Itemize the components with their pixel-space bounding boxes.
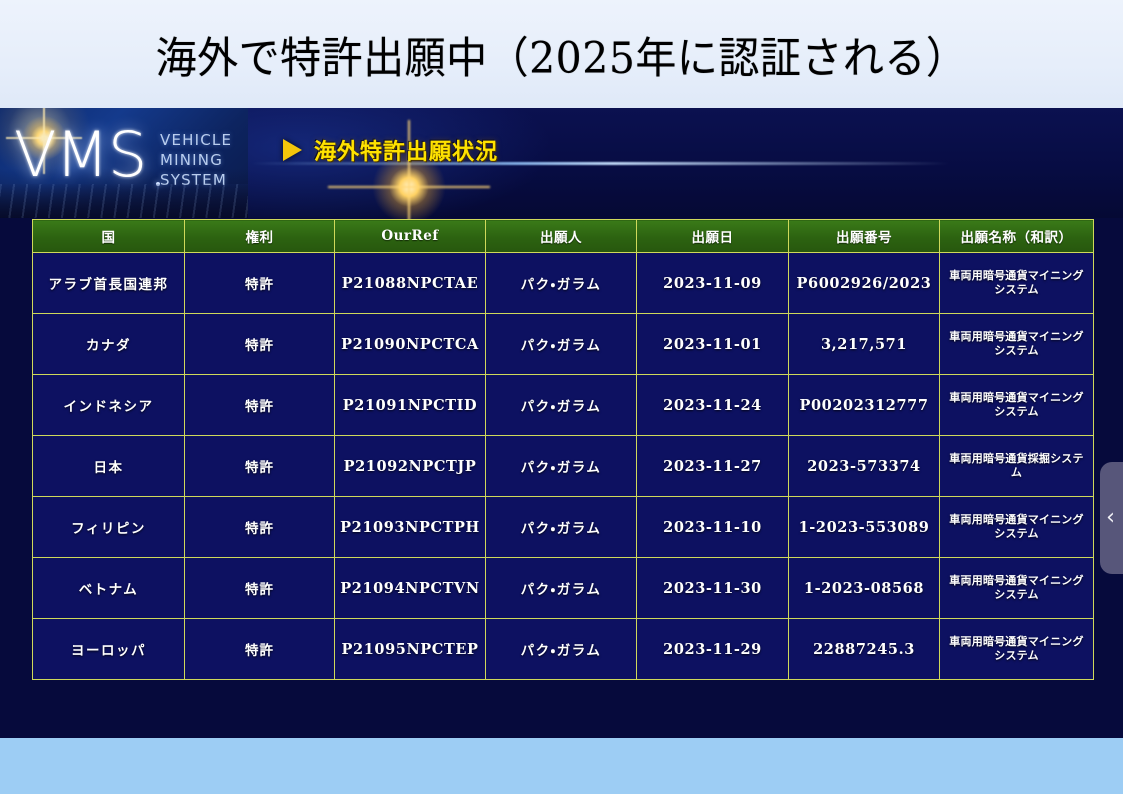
- column-header-ourref[interactable]: OurRef: [335, 220, 486, 253]
- cell-title: 車両用暗号通貨マイニングシステム: [940, 314, 1094, 375]
- cell-applicant: パク・ガラム: [486, 558, 637, 619]
- slide-title-band: 海外で特許出願中（2025年に認証される）: [0, 0, 1123, 108]
- cell-right: 特許: [185, 558, 335, 619]
- cell-country: ベトナム: [33, 558, 185, 619]
- cell-country: アラブ首長国連邦: [33, 253, 185, 314]
- cell-country: インドネシア: [33, 375, 185, 436]
- cell-right: 特許: [185, 436, 335, 497]
- table-header-row: 国 権利 OurRef 出願人 出願日 出願番号 出願名称（和訳）: [33, 220, 1094, 253]
- table-row[interactable]: ベトナム 特許 P21094NPCTVN パク・ガラム 2023-11-30 1…: [33, 558, 1094, 619]
- cell-filing-date: 2023-11-29: [637, 619, 789, 680]
- cell-ourref: P21095NPCTEP: [335, 619, 486, 680]
- cell-filing-date: 2023-11-27: [637, 436, 789, 497]
- cell-ourref: P21091NPCTID: [335, 375, 486, 436]
- cell-ourref: P21094NPCTVN: [335, 558, 486, 619]
- cell-country: 日本: [33, 436, 185, 497]
- cell-right: 特許: [185, 497, 335, 558]
- cell-applicant: パク・ガラム: [486, 619, 637, 680]
- patent-table-container: 国 権利 OurRef 出願人 出願日 出願番号 出願名称（和訳） アラブ首長国…: [32, 219, 1093, 680]
- section-banner: 海外特許出願状況: [283, 134, 498, 166]
- table-row[interactable]: インドネシア 特許 P21091NPCTID パク・ガラム 2023-11-24…: [33, 375, 1094, 436]
- vms-tagline-line-1: VEHICLE: [160, 130, 232, 150]
- cell-right: 特許: [185, 619, 335, 680]
- cell-title: 車両用暗号通貨マイニングシステム: [940, 558, 1094, 619]
- cell-filing-date: 2023-11-09: [637, 253, 789, 314]
- vms-tagline-line-3: SYSTEM: [160, 170, 232, 190]
- cell-right: 特許: [185, 253, 335, 314]
- cell-title: 車両用暗号通貨マイニングシステム: [940, 497, 1094, 558]
- table-row[interactable]: アラブ首長国連邦 特許 P21088NPCTAE パク・ガラム 2023-11-…: [33, 253, 1094, 314]
- patent-table-body: アラブ首長国連邦 特許 P21088NPCTAE パク・ガラム 2023-11-…: [33, 253, 1094, 680]
- cell-title: 車両用暗号通貨マイニングシステム: [940, 375, 1094, 436]
- cell-filing-date: 2023-11-24: [637, 375, 789, 436]
- cell-applicant: パク・ガラム: [486, 314, 637, 375]
- table-row[interactable]: カナダ 特許 P21090NPCTCA パク・ガラム 2023-11-01 3,…: [33, 314, 1094, 375]
- panel-footer-filler: [0, 714, 1123, 738]
- vms-wordmark: VMS: [14, 124, 146, 186]
- cell-country: フィリピン: [33, 497, 185, 558]
- vms-tagline: VEHICLE MINING SYSTEM: [160, 130, 232, 190]
- cell-right: 特許: [185, 314, 335, 375]
- cell-filing-date: 2023-11-30: [637, 558, 789, 619]
- play-triangle-icon: [283, 139, 302, 161]
- column-header-application-no[interactable]: 出願番号: [789, 220, 940, 253]
- page-title: 海外で特許出願中（2025年に認証される）: [156, 22, 968, 86]
- column-header-filing-date[interactable]: 出願日: [637, 220, 789, 253]
- cell-application-no: P00202312777: [789, 375, 940, 436]
- cell-applicant: パク・ガラム: [486, 497, 637, 558]
- cell-application-no: 3,217,571: [789, 314, 940, 375]
- cell-application-no: 1-2023-08568: [789, 558, 940, 619]
- panel-collapse-handle[interactable]: ‹: [1100, 462, 1123, 574]
- content-panel: VMS VEHICLE MINING SYSTEM 海外特許出願状況: [0, 108, 1123, 738]
- section-banner-label: 海外特許出願状況: [314, 134, 498, 166]
- cell-application-no: 1-2023-553089: [789, 497, 940, 558]
- chevron-left-icon: ‹: [1106, 507, 1115, 529]
- cell-application-no: P6002926/2023: [789, 253, 940, 314]
- cell-filing-date: 2023-11-01: [637, 314, 789, 375]
- cell-country: ヨーロッパ: [33, 619, 185, 680]
- cell-title: 車両用暗号通貨採掘システム: [940, 436, 1094, 497]
- cell-ourref: P21088NPCTAE: [335, 253, 486, 314]
- vms-tagline-line-2: MINING: [160, 150, 232, 170]
- patent-table: 国 権利 OurRef 出願人 出願日 出願番号 出願名称（和訳） アラブ首長国…: [32, 219, 1094, 680]
- cell-title: 車両用暗号通貨マイニングシステム: [940, 619, 1094, 680]
- column-header-applicant[interactable]: 出願人: [486, 220, 637, 253]
- panel-header: VMS VEHICLE MINING SYSTEM 海外特許出願状況: [0, 108, 1123, 218]
- cell-title: 車両用暗号通貨マイニングシステム: [940, 253, 1094, 314]
- cell-filing-date: 2023-11-10: [637, 497, 789, 558]
- table-row[interactable]: フィリピン 特許 P21093NPCTPH パク・ガラム 2023-11-10 …: [33, 497, 1094, 558]
- table-row[interactable]: ヨーロッパ 特許 P21095NPCTEP パク・ガラム 2023-11-29 …: [33, 619, 1094, 680]
- cell-application-no: 22887245.3: [789, 619, 940, 680]
- column-header-title[interactable]: 出願名称（和訳）: [940, 220, 1094, 253]
- cell-application-no: 2023-573374: [789, 436, 940, 497]
- cell-applicant: パク・ガラム: [486, 253, 637, 314]
- cell-ourref: P21093NPCTPH: [335, 497, 486, 558]
- cell-right: 特許: [185, 375, 335, 436]
- cell-ourref: P21090NPCTCA: [335, 314, 486, 375]
- cell-applicant: パク・ガラム: [486, 436, 637, 497]
- vms-logo: VMS VEHICLE MINING SYSTEM: [0, 108, 248, 218]
- cell-ourref: P21092NPCTJP: [335, 436, 486, 497]
- bottom-band: [0, 738, 1123, 794]
- cell-applicant: パク・ガラム: [486, 375, 637, 436]
- column-header-right[interactable]: 権利: [185, 220, 335, 253]
- slide-root: 海外で特許出願中（2025年に認証される） VMS VEHICLE MINING…: [0, 0, 1123, 794]
- patent-table-head: 国 権利 OurRef 出願人 出願日 出願番号 出願名称（和訳）: [33, 220, 1094, 253]
- column-header-country[interactable]: 国: [33, 220, 185, 253]
- cell-country: カナダ: [33, 314, 185, 375]
- table-row[interactable]: 日本 特許 P21092NPCTJP パク・ガラム 2023-11-27 202…: [33, 436, 1094, 497]
